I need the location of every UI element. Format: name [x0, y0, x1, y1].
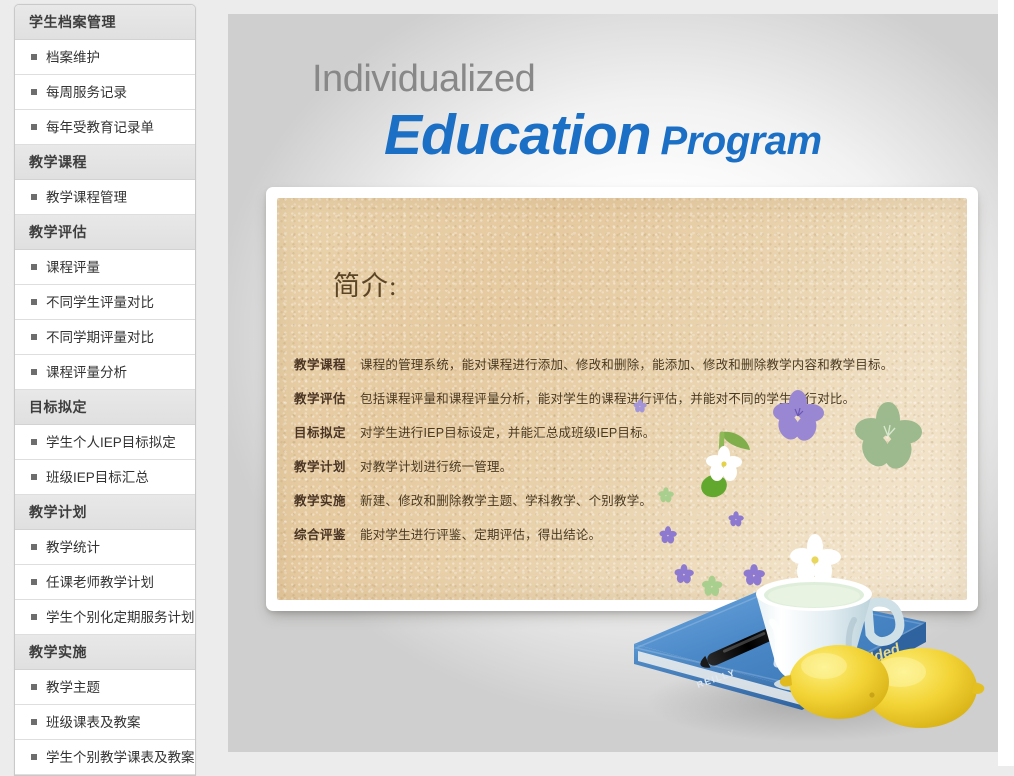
bullet-square-icon — [31, 474, 37, 480]
sidebar-item[interactable]: 班级IEP目标汇总 — [15, 460, 195, 495]
title-word-program: Program — [661, 119, 822, 163]
sidebar-section-header: 教学计划 — [15, 495, 195, 530]
sidebar-item[interactable]: 每周服务记录 — [15, 75, 195, 110]
sidebar-item-label: 教学课程管理 — [46, 190, 127, 205]
bullet-square-icon — [31, 369, 37, 375]
bullet-square-icon — [31, 579, 37, 585]
intro-row-term: 教学课程 — [294, 348, 360, 382]
sidebar-section-header: 目标拟定 — [15, 390, 195, 425]
title-line-education-program: EducationProgram — [384, 107, 952, 164]
sidebar-item[interactable]: 学生个别教学课表及教案 — [15, 740, 195, 775]
sidebar-item-label: 不同学期评量对比 — [46, 330, 154, 345]
sidebar-item-label: 每周服务记录 — [46, 85, 127, 100]
sidebar-item[interactable]: 教学主题 — [15, 670, 195, 705]
intro-row: 教学计划对教学计划进行统一管理。 — [294, 450, 954, 484]
lemon-front — [865, 648, 984, 728]
intro-heading: 简介: — [333, 264, 398, 303]
intro-row-description: 能对学生进行评鉴、定期评估，得出结论。 — [360, 528, 601, 542]
sidebar-item-label: 任课老师教学计划 — [46, 575, 154, 590]
intro-row: 教学实施新建、修改和删除教学主题、学科教学、个别教学。 — [294, 484, 954, 518]
bullet-square-icon — [31, 439, 37, 445]
sidebar-item[interactable]: 课程评量分析 — [15, 355, 195, 390]
sidebar-item-label: 班级课表及教案 — [46, 715, 141, 730]
intro-row-description: 对教学计划进行统一管理。 — [360, 460, 512, 474]
sidebar-item[interactable]: 教学统计 — [15, 530, 195, 565]
intro-row: 目标拟定对学生进行IEP目标设定，并能汇总成班级IEP目标。 — [294, 416, 954, 450]
intro-row: 综合评鉴能对学生进行评鉴、定期评估，得出结论。 — [294, 518, 954, 552]
title-word-education: Education — [384, 103, 651, 167]
sidebar-item-label: 学生个别教学课表及教案 — [46, 750, 195, 765]
main-content-panel: Individualized EducationProgram 简介: 教学课程… — [228, 14, 998, 752]
intro-row-description: 对学生进行IEP目标设定，并能汇总成班级IEP目标。 — [360, 426, 656, 440]
sidebar-spacer — [205, 0, 228, 766]
sidebar-section-header: 学生档案管理 — [15, 5, 195, 40]
sidebar-item-label: 不同学生评量对比 — [46, 295, 154, 310]
sidebar-section-header: 教学课程 — [15, 145, 195, 180]
intro-row: 教学课程课程的管理系统，能对课程进行添加、修改和删除，能添加、修改和删除教学内容… — [294, 348, 954, 382]
intro-row-description: 包括课程评量和课程评量分析，能对学生的课程进行评估，并能对不同的学生进行对比。 — [360, 392, 855, 406]
sidebar-section-header: 教学实施 — [15, 635, 195, 670]
bullet-square-icon — [31, 614, 37, 620]
sidebar-item[interactable]: 学生个别化定期服务计划 — [15, 600, 195, 635]
bullet-square-icon — [31, 544, 37, 550]
book-title-text: Value-Added — [811, 640, 903, 689]
page-right-margin — [998, 0, 1014, 766]
sidebar-item-label: 档案维护 — [46, 50, 100, 65]
sidebar-item[interactable]: 档案维护 — [15, 40, 195, 75]
bullet-square-icon — [31, 299, 37, 305]
intro-row: 教学评估包括课程评量和课程评量分析，能对学生的课程进行评估，并能对不同的学生进行… — [294, 382, 954, 416]
bullet-square-icon — [31, 54, 37, 60]
sidebar-item-label: 课程评量分析 — [46, 365, 127, 380]
bullet-square-icon — [31, 334, 37, 340]
intro-row-term: 教学计划 — [294, 450, 360, 484]
title-line-individualized: Individualized — [312, 60, 952, 98]
bullet-square-icon — [31, 264, 37, 270]
sidebar-item-label: 学生个别化定期服务计划 — [46, 610, 195, 625]
intro-row-description: 新建、修改和删除教学主题、学科教学、个别教学。 — [360, 494, 652, 508]
bullet-square-icon — [31, 124, 37, 130]
sidebar-item[interactable]: 任课老师教学计划 — [15, 565, 195, 600]
bullet-square-icon — [31, 684, 37, 690]
bullet-square-icon — [31, 194, 37, 200]
sidebar-item[interactable]: 班级课表及教案 — [15, 705, 195, 740]
lemon-back — [780, 645, 889, 719]
intro-row-term: 目标拟定 — [294, 416, 360, 450]
sidebar-item-label: 课程评量 — [46, 260, 100, 275]
sidebar-item-label: 学生个人IEP目标拟定 — [46, 435, 176, 450]
bullet-square-icon — [31, 754, 37, 760]
intro-card-paper: 简介: 教学课程课程的管理系统，能对课程进行添加、修改和删除，能添加、修改和删除… — [277, 198, 967, 600]
page-title: Individualized EducationProgram — [312, 60, 952, 164]
sidebar-item[interactable]: 课程评量 — [15, 250, 195, 285]
sidebar-item[interactable]: 每年受教育记录单 — [15, 110, 195, 145]
sidebar-section-header: 教学评估 — [15, 215, 195, 250]
bullet-square-icon — [31, 719, 37, 725]
book-publisher-text: REILLY — [695, 667, 737, 690]
sidebar-item[interactable]: 不同学期评量对比 — [15, 320, 195, 355]
intro-row-term: 综合评鉴 — [294, 518, 360, 552]
sidebar-item-label: 教学统计 — [46, 540, 100, 555]
sidebar-navigation: 学生档案管理档案维护每周服务记录每年受教育记录单教学课程教学课程管理教学评估课程… — [14, 4, 196, 776]
intro-row-term: 教学实施 — [294, 484, 360, 518]
intro-row-list: 教学课程课程的管理系统，能对课程进行添加、修改和删除，能添加、修改和删除教学内容… — [294, 348, 954, 552]
sidebar-item[interactable]: 学生个人IEP目标拟定 — [15, 425, 195, 460]
intro-card: 简介: 教学课程课程的管理系统，能对课程进行添加、修改和删除，能添加、修改和删除… — [266, 187, 978, 611]
intro-row-description: 课程的管理系统，能对课程进行添加、修改和删除，能添加、修改和删除教学内容和教学目… — [360, 358, 893, 372]
sidebar-item-label: 教学主题 — [46, 680, 100, 695]
sidebar-item-label: 班级IEP目标汇总 — [46, 470, 149, 485]
sidebar-item[interactable]: 教学课程管理 — [15, 180, 195, 215]
intro-row-term: 教学评估 — [294, 382, 360, 416]
black-pen — [698, 611, 810, 672]
sidebar-item[interactable]: 不同学生评量对比 — [15, 285, 195, 320]
bullet-square-icon — [31, 89, 37, 95]
sidebar-item-label: 每年受教育记录单 — [46, 120, 154, 135]
